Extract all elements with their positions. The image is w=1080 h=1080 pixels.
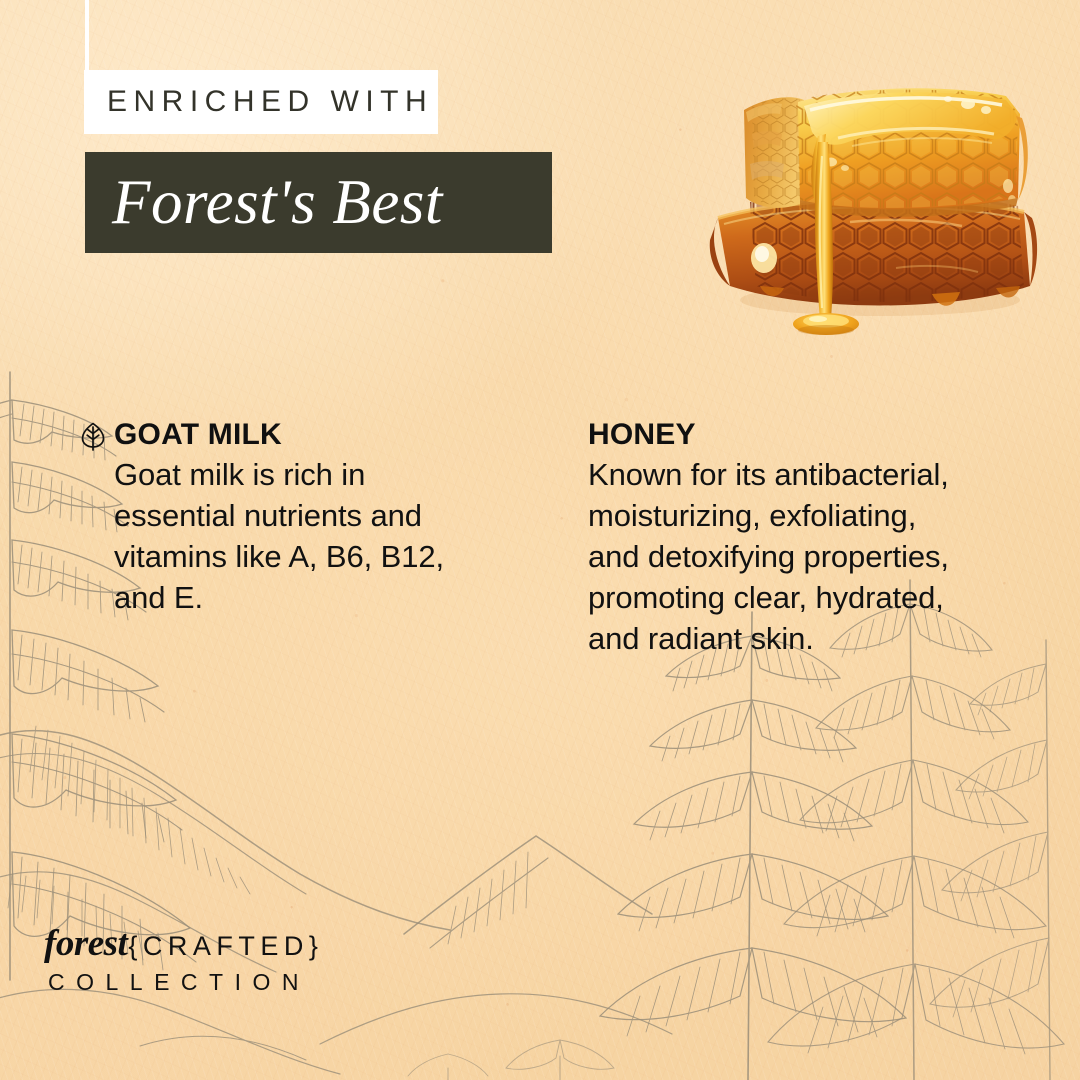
ingredient-description: Known for its antibacterial, moisturizin… xyxy=(588,454,1038,659)
leaf-icon xyxy=(80,421,106,451)
ingredient-title: GOAT MILK xyxy=(80,418,282,452)
description-line: promoting clear, hydrated, xyxy=(588,580,944,615)
description-line: moisturizing, exfoliating, xyxy=(588,498,916,533)
ingredient-honey: HONEY Known for its antibacterial, moist… xyxy=(588,418,1038,659)
description-line: essential nutrients and xyxy=(114,498,422,533)
description-line: vitamins like A, B6, B12, xyxy=(114,539,444,574)
honey-heading-row: HONEY xyxy=(588,418,1038,452)
eyebrow-banner: ENRICHED WITH xyxy=(84,70,438,134)
page-title: Forest's Best xyxy=(85,166,443,239)
ingredient-title: HONEY xyxy=(588,418,696,452)
ingredient-goat-milk: GOAT MILK Goat milk is rich in essential… xyxy=(80,418,500,618)
honeycomb-illustration xyxy=(700,72,1042,372)
eyebrow-text: ENRICHED WITH xyxy=(84,85,433,119)
title-banner: Forest's Best xyxy=(85,152,552,253)
description-line: Goat milk is rich in xyxy=(114,457,365,492)
brand-logo: forest {CRAFTED} COLLECTION xyxy=(44,922,404,996)
poster-canvas: ENRICHED WITH Forest's Best xyxy=(0,0,1080,1080)
logo-wordmark-collection: COLLECTION xyxy=(44,969,404,996)
description-line: and detoxifying properties, xyxy=(588,539,949,574)
description-line: and radiant skin. xyxy=(588,621,814,656)
logo-wordmark-forest: forest xyxy=(44,922,127,965)
corner-accent-rule xyxy=(85,0,89,72)
ingredient-description: Goat milk is rich in essential nutrients… xyxy=(80,454,500,618)
description-line: and E. xyxy=(114,580,203,615)
goat-milk-heading-row: GOAT MILK xyxy=(80,418,500,452)
logo-wordmark-crafted: {CRAFTED} xyxy=(128,931,323,962)
description-line: Known for its antibacterial, xyxy=(588,457,949,492)
logo-primary-row: forest {CRAFTED} xyxy=(44,922,404,965)
